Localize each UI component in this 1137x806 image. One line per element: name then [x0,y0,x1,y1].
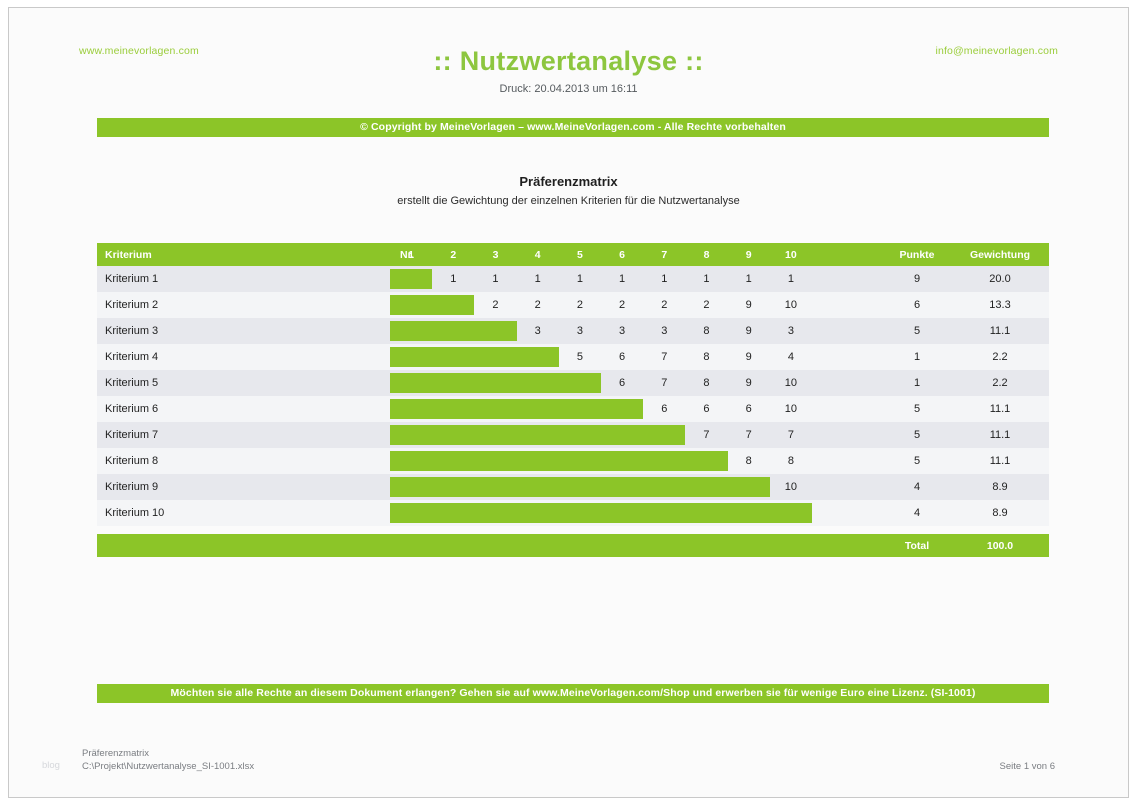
row-matrix-zone [390,500,812,526]
matrix-column-header-8: 8 [685,243,727,266]
row-punkte-value: 4 [887,474,947,500]
matrix-header-zone: 12345678910 [390,243,812,266]
row-gewichtung-value: 11.1 [959,396,1041,422]
matrix-cell[interactable]: 1 [685,266,727,292]
matrix-cell[interactable]: 1 [432,266,474,292]
row-criterion-name: Kriterium 1 [105,266,335,292]
matrix-column-header-6: 6 [601,243,643,266]
table-row[interactable]: Kriterium 8888511.1 [97,448,1049,474]
row-fill-bar [390,269,432,289]
footer-blog-label: blog [42,760,60,771]
row-gewichtung-value: 8.9 [959,474,1041,500]
matrix-cell[interactable]: 6 [601,370,643,396]
matrix-cell[interactable]: 6 [685,396,727,422]
row-matrix-zone: 3333893 [390,318,812,344]
footer-file-path: C:\Projekt\Nutzwertanalyse_SI-1001.xlsx [82,761,254,772]
matrix-cell[interactable]: 10 [770,396,812,422]
matrix-cell[interactable]: 1 [770,266,812,292]
column-header-punkte: Punkte [887,243,947,266]
row-matrix-zone: 88 [390,448,812,474]
row-matrix-zone: 678910 [390,370,812,396]
matrix-column-header-10: 10 [770,243,812,266]
matrix-cell[interactable]: 4 [770,344,812,370]
matrix-cell[interactable]: 2 [559,292,601,318]
row-fill-bar [390,477,770,497]
row-punkte-value: 1 [887,344,947,370]
matrix-column-header-7: 7 [643,243,685,266]
matrix-cell[interactable]: 8 [770,448,812,474]
row-matrix-zone: 567894 [390,344,812,370]
row-matrix-zone: 111111111 [390,266,812,292]
preference-matrix-table: Kriterium Nr. 12345678910 Punkte Gewicht… [97,243,1049,557]
matrix-column-header-1: 1 [390,243,432,266]
matrix-cell[interactable]: 1 [517,266,559,292]
row-criterion-name: Kriterium 10 [105,500,335,526]
row-criterion-name: Kriterium 8 [105,448,335,474]
section-subtitle: erstellt die Gewichtung der einzelnen Kr… [9,195,1128,207]
table-row[interactable]: Kriterium 11111111111920.0 [97,266,1049,292]
row-criterion-name: Kriterium 4 [105,344,335,370]
matrix-cell[interactable]: 8 [685,370,727,396]
row-fill-bar [390,373,601,393]
matrix-cell[interactable]: 7 [685,422,727,448]
matrix-cell[interactable]: 2 [517,292,559,318]
row-gewichtung-value: 11.1 [959,318,1041,344]
row-punkte-value: 4 [887,500,947,526]
row-punkte-value: 5 [887,396,947,422]
matrix-cell[interactable]: 10 [770,370,812,396]
table-row[interactable]: Kriterium 4456789412.2 [97,344,1049,370]
document-title: :: Nutzwertanalyse :: [9,46,1128,77]
row-punkte-value: 5 [887,422,947,448]
matrix-cell[interactable]: 6 [728,396,770,422]
copyright-band: © Copyright by MeineVorlagen – www.Meine… [97,118,1049,137]
row-gewichtung-value: 8.9 [959,500,1041,526]
license-band: Möchten sie alle Rechte an diesem Dokume… [97,684,1049,703]
matrix-cell[interactable]: 9 [728,318,770,344]
matrix-cell[interactable]: 10 [770,474,812,500]
footer-page-number: Seite 1 von 6 [1000,761,1055,772]
matrix-cell[interactable]: 8 [685,344,727,370]
row-matrix-zone: 66610 [390,396,812,422]
row-punkte-value: 1 [887,370,947,396]
row-fill-bar [390,321,517,341]
matrix-cell[interactable]: 3 [770,318,812,344]
matrix-cell[interactable]: 9 [728,292,770,318]
row-gewichtung-value: 13.3 [959,292,1041,318]
table-header-row: Kriterium Nr. 12345678910 Punkte Gewicht… [97,243,1049,266]
row-criterion-name: Kriterium 6 [105,396,335,422]
row-criterion-name: Kriterium 7 [105,422,335,448]
matrix-cell[interactable]: 2 [601,292,643,318]
matrix-cell[interactable]: 9 [728,344,770,370]
row-criterion-name: Kriterium 9 [105,474,335,500]
row-matrix-zone: 10 [390,474,812,500]
matrix-cell[interactable]: 9 [728,370,770,396]
matrix-cell[interactable]: 1 [728,266,770,292]
table-row[interactable]: Kriterium 22222222910613.3 [97,292,1049,318]
table-row[interactable]: Kriterium 101048.9 [97,500,1049,526]
footer-sheet-name: Präferenzmatrix [82,748,149,759]
matrix-cell[interactable]: 7 [770,422,812,448]
matrix-cell[interactable]: 5 [559,344,601,370]
row-gewichtung-value: 11.1 [959,448,1041,474]
row-fill-bar [390,347,559,367]
document-page: www.meinevorlagen.com info@meinevorlagen… [0,0,1137,806]
matrix-column-header-3: 3 [474,243,516,266]
matrix-cell[interactable]: 6 [643,396,685,422]
matrix-cell[interactable]: 2 [685,292,727,318]
matrix-cell[interactable]: 1 [643,266,685,292]
table-row[interactable]: Kriterium 6666610511.1 [97,396,1049,422]
table-row[interactable]: Kriterium 5567891012.2 [97,370,1049,396]
row-fill-bar [390,503,812,523]
matrix-column-header-2: 2 [432,243,474,266]
total-label: Total [887,534,947,557]
row-fill-bar [390,425,685,445]
table-row[interactable]: Kriterium 333333893511.1 [97,318,1049,344]
matrix-cell[interactable]: 3 [643,318,685,344]
table-row[interactable]: Kriterium 991048.9 [97,474,1049,500]
matrix-column-header-5: 5 [559,243,601,266]
matrix-cell[interactable]: 1 [601,266,643,292]
row-gewichtung-value: 20.0 [959,266,1041,292]
matrix-cell[interactable]: 7 [643,370,685,396]
matrix-cell[interactable]: 3 [559,318,601,344]
row-punkte-value: 5 [887,448,947,474]
section-title: Präferenzmatrix [9,174,1128,189]
total-value: 100.0 [959,534,1041,557]
print-sheet: www.meinevorlagen.com info@meinevorlagen… [9,8,1128,797]
row-criterion-name: Kriterium 2 [105,292,335,318]
matrix-cell[interactable]: 8 [728,448,770,474]
row-fill-bar [390,399,643,419]
matrix-cell[interactable]: 2 [643,292,685,318]
matrix-cell[interactable]: 7 [728,422,770,448]
matrix-cell[interactable]: 1 [559,266,601,292]
row-punkte-value: 5 [887,318,947,344]
matrix-cell[interactable]: 8 [685,318,727,344]
matrix-cell[interactable]: 6 [601,344,643,370]
print-timestamp: Druck: 20.04.2013 um 16:11 [9,83,1128,95]
matrix-cell[interactable]: 7 [643,344,685,370]
matrix-cell[interactable]: 10 [770,292,812,318]
matrix-cell[interactable]: 1 [474,266,516,292]
row-fill-bar [390,295,474,315]
row-punkte-value: 6 [887,292,947,318]
table-row[interactable]: Kriterium 77777511.1 [97,422,1049,448]
column-header-gewichtung: Gewichtung [959,243,1041,266]
row-gewichtung-value: 11.1 [959,422,1041,448]
row-matrix-zone: 777 [390,422,812,448]
row-fill-bar [390,451,728,471]
matrix-cell[interactable]: 3 [601,318,643,344]
row-gewichtung-value: 2.2 [959,344,1041,370]
row-gewichtung-value: 2.2 [959,370,1041,396]
matrix-cell[interactable]: 2 [474,292,516,318]
row-criterion-name: Kriterium 3 [105,318,335,344]
matrix-cell[interactable]: 3 [517,318,559,344]
table-total-row: Total 100.0 [97,534,1049,557]
row-criterion-name: Kriterium 5 [105,370,335,396]
row-punkte-value: 9 [887,266,947,292]
row-matrix-zone: 222222910 [390,292,812,318]
matrix-column-header-9: 9 [728,243,770,266]
table-body: Kriterium 11111111111920.0Kriterium 2222… [97,266,1049,526]
column-header-criterion: Kriterium [105,243,335,266]
matrix-column-header-4: 4 [517,243,559,266]
